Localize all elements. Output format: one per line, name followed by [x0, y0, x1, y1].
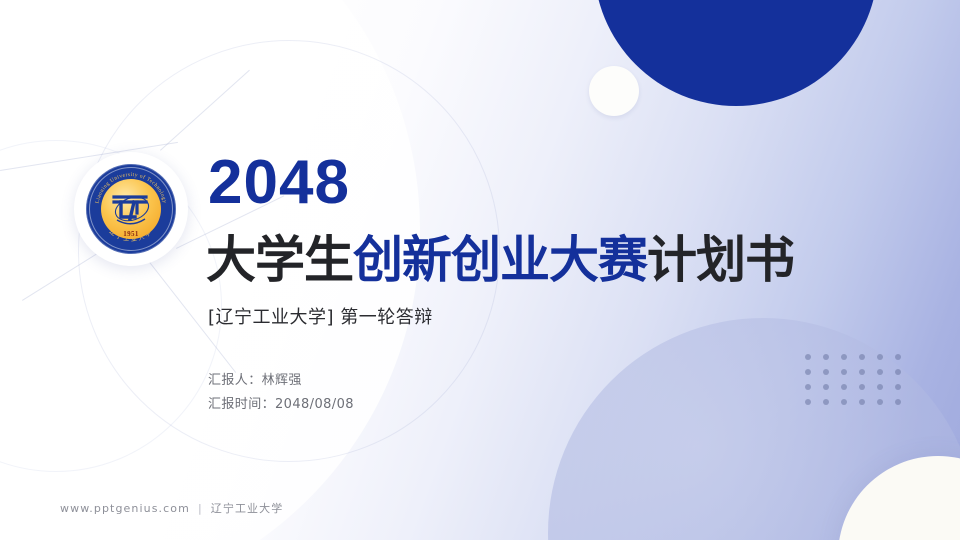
grid-dot [895, 354, 901, 360]
title-slide: Liaoning University of Technology 辽宁工业大学 [0, 0, 960, 540]
slide-meta-block: 汇报人：林辉强 汇报时间：2048/08/08 [208, 369, 354, 417]
grid-dot [877, 384, 883, 390]
grid-dot [841, 399, 847, 405]
grid-dot [805, 354, 811, 360]
grid-dot [841, 369, 847, 375]
grid-dot [823, 354, 829, 360]
slide-main-title: 大学生创新创业大赛计划书 [206, 234, 794, 287]
title-segment-prefix: 大学生 [206, 231, 353, 289]
grid-dot [823, 384, 829, 390]
footer-organization: 辽宁工业大学 [211, 502, 284, 515]
grid-dot [823, 399, 829, 405]
slide-subtitle: [辽宁工业大学] 第一轮答辩 [208, 303, 433, 329]
grid-dot [823, 369, 829, 375]
grid-dot [895, 399, 901, 405]
grid-dot [805, 369, 811, 375]
grid-dot [859, 369, 865, 375]
presenter-line: 汇报人：林辉强 [208, 369, 354, 393]
title-segment-highlight: 创新创业大赛 [353, 231, 647, 289]
footer-website[interactable]: www.pptgenius.com [60, 502, 190, 515]
grid-dot [895, 369, 901, 375]
university-logo-emblem-ring: Liaoning University of Technology 辽宁工业大学 [86, 164, 176, 254]
grid-dot [859, 354, 865, 360]
date-line: 汇报时间：2048/08/08 [208, 393, 354, 417]
grid-dot [877, 399, 883, 405]
grid-dot [841, 354, 847, 360]
grid-dot [805, 399, 811, 405]
decorative-dot-grid [805, 354, 913, 414]
grid-dot [895, 384, 901, 390]
grid-dot [841, 384, 847, 390]
background-white-dot-circle [589, 66, 639, 116]
university-logo: Liaoning University of Technology 辽宁工业大学 [74, 152, 188, 266]
university-logo-core: 1951 [101, 179, 161, 239]
grid-dot [877, 369, 883, 375]
slide-footer: www.pptgenius.com|辽宁工业大学 [60, 500, 283, 516]
footer-separator: | [198, 502, 203, 515]
grid-dot [805, 384, 811, 390]
grid-dot [859, 399, 865, 405]
title-segment-suffix: 计划书 [647, 231, 794, 289]
university-logo-founded-year: 1951 [101, 230, 161, 238]
grid-dot [859, 384, 865, 390]
slide-year-heading: 2048 [208, 152, 350, 214]
grid-dot [877, 354, 883, 360]
